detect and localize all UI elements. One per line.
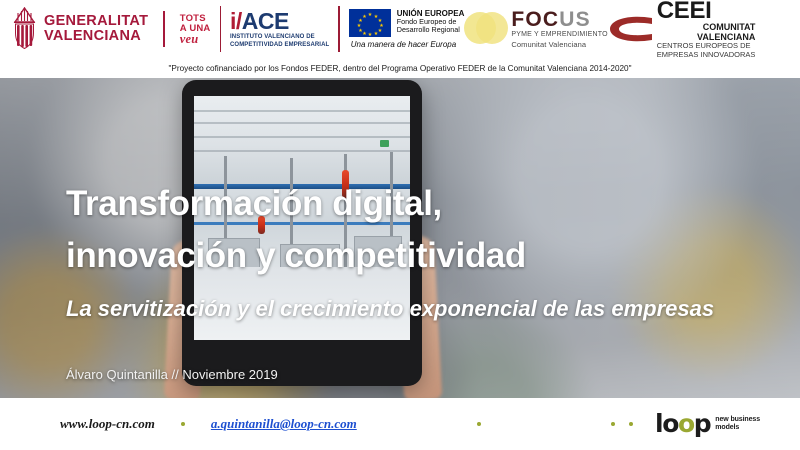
footer-bar: www.loop-cn.com a.quintanilla@loop-cn.co… — [0, 398, 800, 450]
funding-statement-text: "Proyecto cofinanciado por los Fondos FE… — [168, 64, 631, 73]
focus-wordmark: FOCUS — [511, 9, 607, 31]
bullet-dot-icon-3 — [611, 422, 615, 426]
email-link[interactable]: a.quintanilla@loop-cn.com — [211, 416, 357, 432]
ivace-sub-line2: COMPETITIVIDAD EMPRESARIAL — [230, 42, 329, 49]
focus-sub-line2: Comunitat Valenciana — [511, 40, 607, 49]
eu-sub-line2: Desarrollo Regional — [397, 26, 465, 34]
logo-european-union: ★ ★ ★ ★ ★ ★ ★ ★ ★ ★ ★ ★ UNIÓN EUROPEA Fo… — [349, 0, 465, 58]
ceei-swoosh-icon — [608, 14, 654, 44]
generalitat-wordmark: GENERALITAT VALENCIANA — [44, 14, 148, 45]
bullet-dot-icon-2 — [477, 422, 481, 426]
hero-image: Transformación digital, innovación y com… — [0, 78, 800, 398]
crown-bat-icon — [13, 7, 36, 24]
european-union-flag-icon: ★ ★ ★ ★ ★ ★ ★ ★ ★ ★ ★ ★ — [349, 9, 391, 37]
loop-letter-p: p — [694, 409, 711, 438]
loop-letter-o1: o — [662, 409, 678, 438]
page-title-line1: Transformación digital, — [66, 178, 800, 230]
logo-loop: loop new business models — [655, 412, 760, 436]
eu-flag-and-text: ★ ★ ★ ★ ★ ★ ★ ★ ★ ★ ★ ★ UNIÓN EUROPEA Fo… — [349, 9, 465, 37]
page-title-line2: innovación y competitividad — [66, 230, 800, 282]
tots-a-una-veu-mark: TOTS A UNA veu — [180, 14, 211, 44]
focus-word-part1: FOC — [511, 8, 559, 31]
ceei-sub-line1: COMUNITAT — [657, 22, 756, 32]
ceei-wordmark: CEEI — [657, 0, 756, 22]
logo-ceei: CEEI COMUNITAT VALENCIANA CENTROS EUROPE… — [608, 0, 764, 58]
website-link[interactable]: www.loop-cn.com — [60, 416, 155, 432]
loop-tagline-line2: models — [715, 424, 760, 433]
loop-letter-o2: o — [678, 409, 694, 438]
loop-tagline-line1: new business — [715, 416, 760, 425]
bullet-dot-icon-1 — [181, 422, 185, 426]
eu-motto: Una manera de hacer Europa — [349, 40, 456, 49]
focus-sub-line1: PYME Y EMPRENDIMIENTO — [511, 31, 607, 40]
tots-line3: veu — [180, 34, 211, 44]
focus-text-block: FOCUS PYME Y EMPRENDIMIENTO Comunitat Va… — [511, 9, 607, 49]
sponsor-logo-bar: GENERALITAT VALENCIANA TOTS A UNA veu i/… — [0, 0, 800, 58]
title-slide: GENERALITAT VALENCIANA TOTS A UNA veu i/… — [0, 0, 800, 450]
generalitat-divider — [163, 11, 165, 47]
focus-word-part2: US — [559, 8, 591, 31]
page-subtitle: La servitización y el crecimiento expone… — [66, 292, 800, 326]
funding-statement-bar: "Proyecto cofinanciado por los Fondos FE… — [0, 58, 800, 78]
logo-ivace: i/ACE INSTITUTO VALENCIANO DE COMPETITIV… — [230, 0, 329, 58]
loop-wordmark: loop — [655, 412, 710, 436]
hero-text-block: Transformación digital, innovación y com… — [0, 156, 800, 398]
ceei-text-block: CEEI COMUNITAT VALENCIANA CENTROS EUROPE… — [657, 0, 756, 59]
loop-tagline: new business models — [715, 416, 760, 433]
striped-shield-icon — [14, 23, 35, 50]
author-and-date: Álvaro Quintanilla // Noviembre 2019 — [66, 366, 800, 384]
logo-divider-1 — [220, 6, 222, 52]
logo-divider-2 — [338, 6, 340, 52]
generalitat-line2: VALENCIANA — [44, 29, 148, 45]
ivace-letters-ace: ACE — [242, 8, 289, 34]
generalitat-line1: GENERALITAT — [44, 14, 148, 30]
ivace-wordmark: i/ACE — [230, 9, 289, 33]
bullet-dot-icon-4 — [629, 422, 633, 426]
eu-text-block: UNIÓN EUROPEA Fondo Europeo de Desarroll… — [397, 9, 465, 35]
focus-overlapping-circles-icon — [464, 9, 508, 49]
ivace-sub-line1: INSTITUTO VALENCIANO DE — [230, 34, 315, 41]
logo-focus: FOCUS PYME Y EMPRENDIMIENTO Comunitat Va… — [464, 0, 607, 58]
generalitat-valenciana-coat-of-arms-icon — [12, 7, 37, 51]
logo-generalitat-valenciana: GENERALITAT VALENCIANA TOTS A UNA veu — [0, 0, 211, 58]
